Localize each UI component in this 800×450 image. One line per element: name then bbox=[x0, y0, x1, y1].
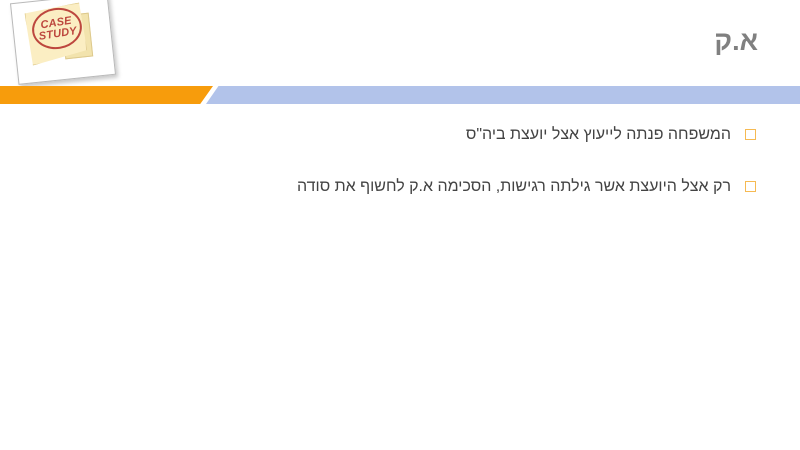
case-study-image: CASE STUDY bbox=[8, 0, 120, 90]
divider-bar-blue bbox=[206, 86, 800, 104]
bullet-list: המשפחה פנתה לייעוץ אצל יועצת ביה"ס רק אצ… bbox=[0, 124, 800, 227]
list-item-label: המשפחה פנתה לייעוץ אצל יועצת ביה"ס bbox=[466, 124, 731, 146]
list-item: רק אצל היועצת אשר גילתה רגישות, הסכימה א… bbox=[0, 176, 800, 198]
list-item-label: רק אצל היועצת אשר גילתה רגישות, הסכימה א… bbox=[297, 176, 731, 198]
square-bullet-icon bbox=[745, 129, 756, 140]
divider bbox=[0, 86, 800, 104]
divider-bar-orange bbox=[0, 86, 213, 104]
slide-canvas: CASE STUDY א.ק המשפחה פנתה לייעוץ אצל יו… bbox=[0, 0, 800, 450]
square-bullet-icon bbox=[745, 181, 756, 192]
page-title: א.ק bbox=[714, 26, 758, 57]
list-item: המשפחה פנתה לייעוץ אצל יועצת ביה"ס bbox=[0, 124, 800, 146]
